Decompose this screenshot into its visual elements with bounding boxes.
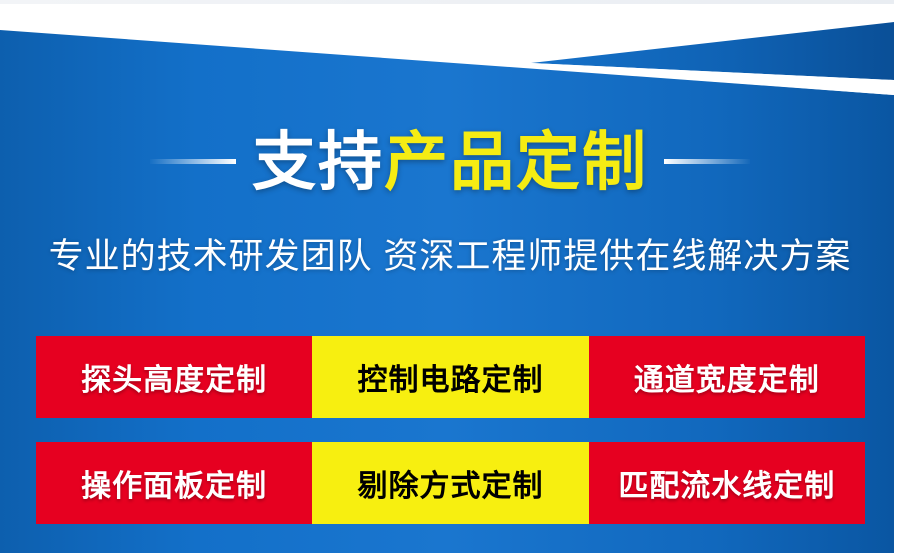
page-subtitle: 专业的技术研发团队 资深工程师提供在线解决方案 <box>49 228 852 279</box>
decorative-rule-left <box>150 159 236 164</box>
decorative-rule-right <box>664 159 750 164</box>
feature-chip-control-circuit[interactable]: 控制电路定制 <box>312 336 588 418</box>
feature-chip-probe-height[interactable]: 探头高度定制 <box>36 336 312 418</box>
hero-section: 支持产品定制 专业的技术研发团队 资深工程师提供在线解决方案 <box>0 60 900 290</box>
feature-row: 探头高度定制 控制电路定制 通道宽度定制 <box>36 336 865 418</box>
page-title-highlight: 产品定制 <box>384 126 648 198</box>
page-title: 支持产品定制 <box>252 130 648 194</box>
feature-grid: 探头高度定制 控制电路定制 通道宽度定制 操作面板定制 剔除方式定制 匹配流水线… <box>36 336 865 524</box>
headline-row: 支持产品定制 <box>70 114 830 210</box>
feature-row: 操作面板定制 剔除方式定制 匹配流水线定制 <box>36 442 865 524</box>
product-customization-banner: 支持产品定制 专业的技术研发团队 资深工程师提供在线解决方案 探头高度定制 控制… <box>0 0 900 553</box>
page-title-prefix: 支持 <box>252 126 384 198</box>
feature-chip-rejection-method[interactable]: 剔除方式定制 <box>312 442 588 524</box>
feature-chip-channel-width[interactable]: 通道宽度定制 <box>589 336 865 418</box>
feature-chip-production-line-match[interactable]: 匹配流水线定制 <box>589 442 865 524</box>
feature-chip-operation-panel[interactable]: 操作面板定制 <box>36 442 312 524</box>
